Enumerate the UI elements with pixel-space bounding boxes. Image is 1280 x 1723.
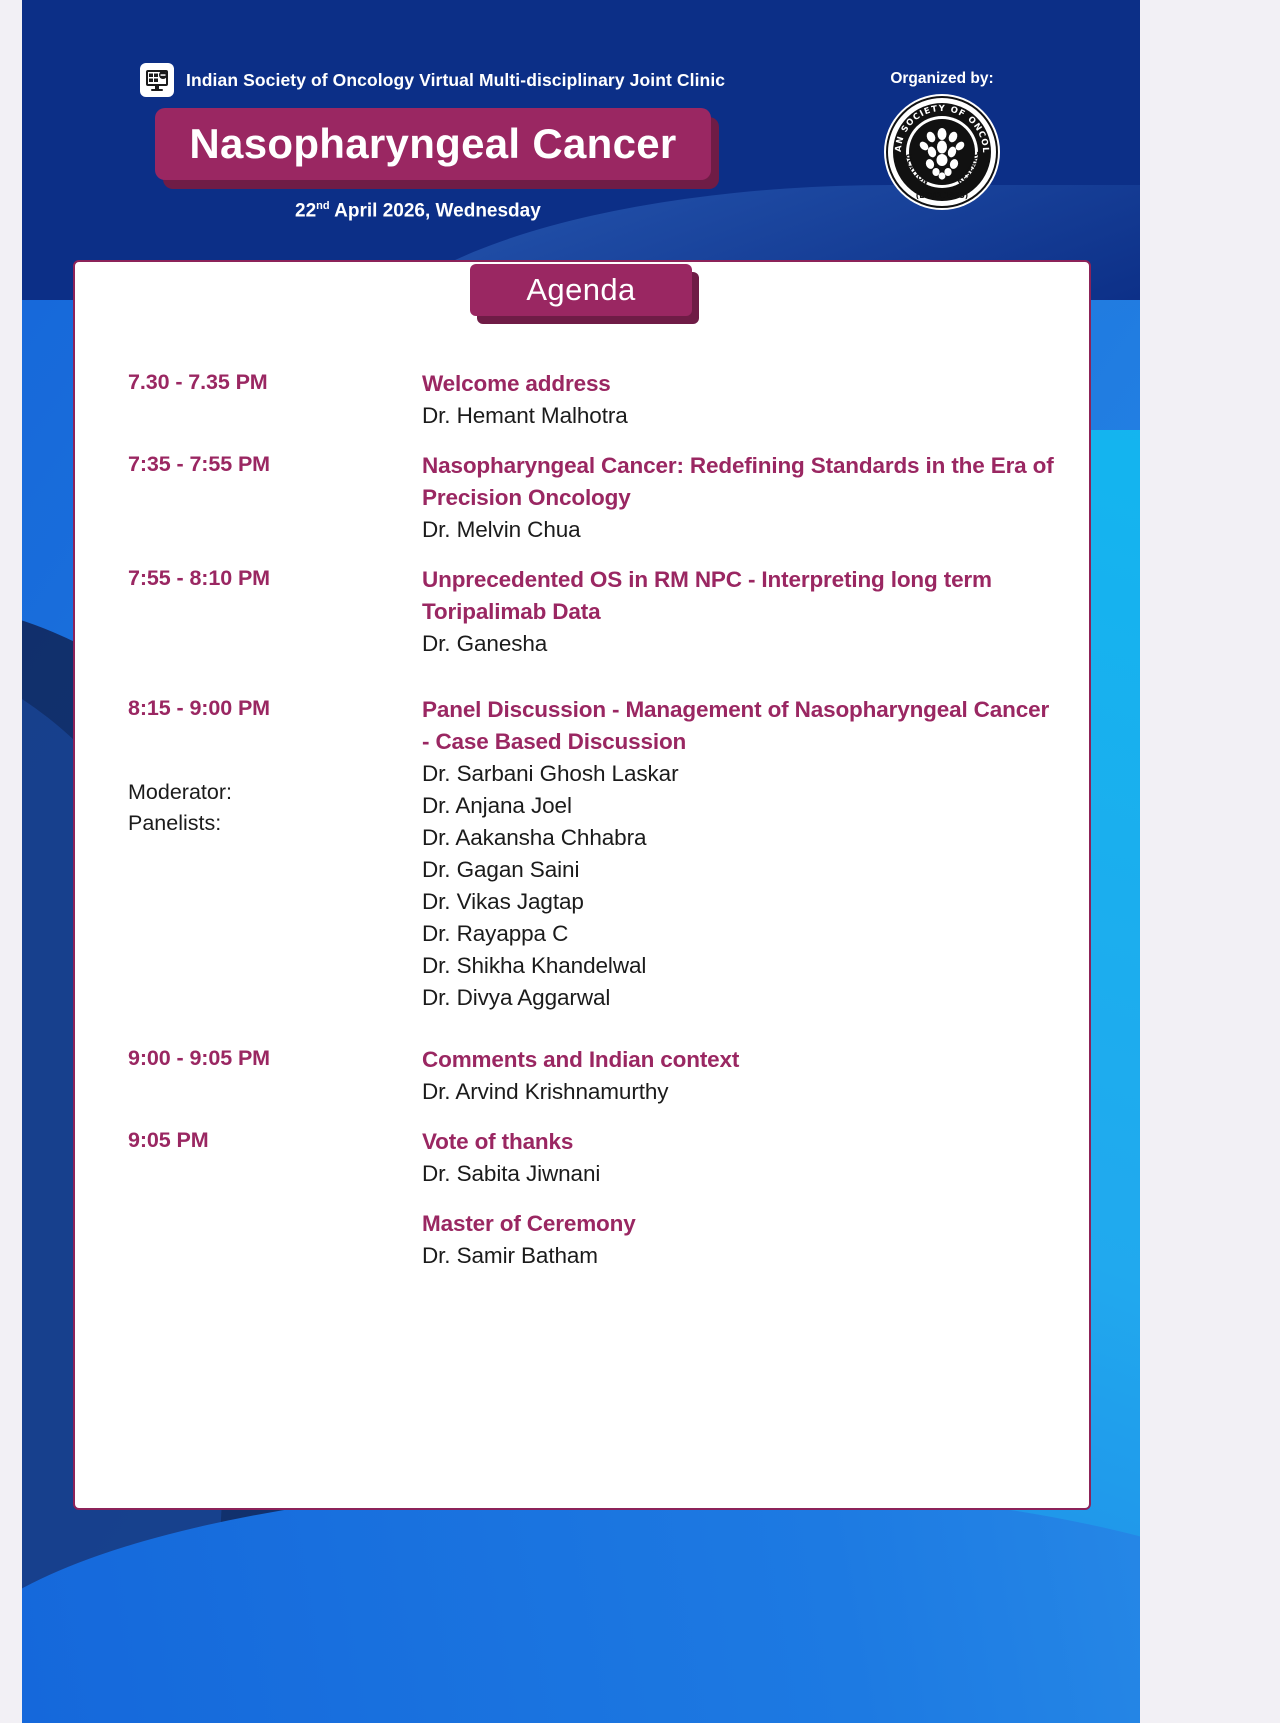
agenda-row-time: 7.30 - 7.35 PM (128, 370, 422, 395)
panelist: Dr. Divya Aggarwal (422, 982, 1061, 1014)
panelist: Dr. Vikas Jagtap (422, 886, 1061, 918)
agenda-row-time-col: 7:35 - 7:55 PM (128, 450, 422, 477)
agenda-row-panel: 8:15 - 9:00 PM Moderator: Panelists: Pan… (73, 694, 1091, 1014)
agenda-row-title: Nasopharyngeal Cancer: Redefining Standa… (422, 450, 1061, 514)
row-spacer (73, 1014, 1091, 1044)
agenda-row-time: 7:55 - 8:10 PM (128, 566, 422, 591)
panelist: Dr. Aakansha Chhabra (422, 822, 1061, 854)
agenda-row-speaker: Dr. Samir Batham (422, 1240, 1061, 1272)
agenda-row-speaker: Dr. Ganesha (422, 628, 1061, 660)
agenda-row-title: Master of Ceremony (422, 1208, 1061, 1240)
agenda-row-content: Master of Ceremony Dr. Samir Batham (422, 1208, 1061, 1272)
agenda-row: 7:35 - 7:55 PM Nasopharyngeal Cancer: Re… (73, 450, 1091, 546)
agenda-row-time-col: 7.30 - 7.35 PM (128, 368, 422, 395)
agenda-row-time: 9:05 PM (128, 1128, 422, 1153)
title-plate-wrapper: Nasopharyngeal Cancer (155, 108, 711, 180)
event-date-rest: April 2026, Wednesday (330, 200, 541, 221)
svg-text:(ESTD.1983): (ESTD.1983) (916, 191, 968, 200)
agenda-row-time-col: 9:05 PM (128, 1126, 422, 1153)
iso-seal-logo: INDIAN SOCIETY OF ONCOLOGY EDUCATION RES… (884, 94, 1000, 210)
agenda-list: 7.30 - 7.35 PM Welcome address Dr. Heman… (73, 260, 1091, 1272)
agenda-row-content: Nasopharyngeal Cancer: Redefining Standa… (422, 450, 1061, 546)
page-title: Nasopharyngeal Cancer (189, 120, 676, 168)
agenda-row-time-col: 8:15 - 9:00 PM Moderator: Panelists: (128, 694, 422, 839)
row-spacer (73, 1108, 1091, 1126)
agenda-row-speaker: Dr. Hemant Malhotra (422, 400, 1061, 432)
agenda-row-speaker: Dr. Sabita Jiwnani (422, 1158, 1061, 1190)
moderator-label: Moderator: (128, 777, 422, 808)
panel-moderator: Dr. Sarbani Ghosh Laskar (422, 758, 1061, 790)
society-line: Indian Society of Oncology Virtual Multi… (140, 63, 725, 97)
agenda-row-content: Vote of thanks Dr. Sabita Jiwnani (422, 1126, 1061, 1190)
agenda-row-speaker: Dr. Melvin Chua (422, 514, 1061, 546)
agenda-row-content: Comments and Indian context Dr. Arvind K… (422, 1044, 1061, 1108)
agenda-row-title: Welcome address (422, 368, 1061, 400)
organized-by-block: Organized by: INDIAN SOCIETY OF ONCOLOGY (842, 70, 1042, 210)
event-date-ordinal: nd (316, 200, 329, 212)
agenda-row-mc: Master of Ceremony Dr. Samir Batham (73, 1208, 1091, 1272)
panelist: Dr. Shikha Khandelwal (422, 950, 1061, 982)
agenda-row-time-col (128, 1208, 422, 1210)
panelist: Dr. Anjana Joel (422, 790, 1061, 822)
agenda-row-time-col: 7:55 - 8:10 PM (128, 564, 422, 591)
panelist: Dr. Gagan Saini (422, 854, 1061, 886)
agenda-row-content: Unprecedented OS in RM NPC - Interpretin… (422, 564, 1061, 660)
poster: Indian Society of Oncology Virtual Multi… (22, 0, 1140, 1723)
agenda-row-time: 7:35 - 7:55 PM (128, 452, 422, 477)
row-spacer (73, 1190, 1091, 1208)
agenda-row-title: Unprecedented OS in RM NPC - Interpretin… (422, 564, 1061, 628)
panelists-label: Panelists: (128, 808, 422, 839)
event-date: 22nd April 2026, Wednesday (295, 200, 541, 222)
agenda-row-title: Comments and Indian context (422, 1044, 1061, 1076)
row-spacer (73, 660, 1091, 694)
organized-by-label: Organized by: (842, 70, 1042, 88)
society-title: Indian Society of Oncology Virtual Multi… (186, 70, 725, 91)
event-date-day: 22 (295, 200, 316, 221)
agenda-row: 9:00 - 9:05 PM Comments and Indian conte… (73, 1044, 1091, 1108)
agenda-row-speaker: Dr. Arvind Krishnamurthy (422, 1076, 1061, 1108)
title-plate: Nasopharyngeal Cancer (155, 108, 711, 180)
agenda-row-title: Vote of thanks (422, 1126, 1061, 1158)
agenda-row-time: 9:00 - 9:05 PM (128, 1046, 422, 1071)
agenda-row-time: 8:15 - 9:00 PM (128, 696, 422, 721)
agenda-row-title: Panel Discussion - Management of Nasopha… (422, 694, 1061, 758)
row-spacer (73, 546, 1091, 564)
agenda-row: 7.30 - 7.35 PM Welcome address Dr. Heman… (73, 368, 1091, 432)
agenda-row-time-col: 9:00 - 9:05 PM (128, 1044, 422, 1071)
agenda-row: 9:05 PM Vote of thanks Dr. Sabita Jiwnan… (73, 1126, 1091, 1190)
panelist: Dr. Rayappa C (422, 918, 1061, 950)
agenda-row-content: Welcome address Dr. Hemant Malhotra (422, 368, 1061, 432)
society-monitor-icon (140, 63, 174, 97)
agenda-row-content: Panel Discussion - Management of Nasopha… (422, 694, 1061, 1014)
row-spacer (73, 432, 1091, 450)
agenda-row: 7:55 - 8:10 PM Unprecedented OS in RM NP… (73, 564, 1091, 660)
